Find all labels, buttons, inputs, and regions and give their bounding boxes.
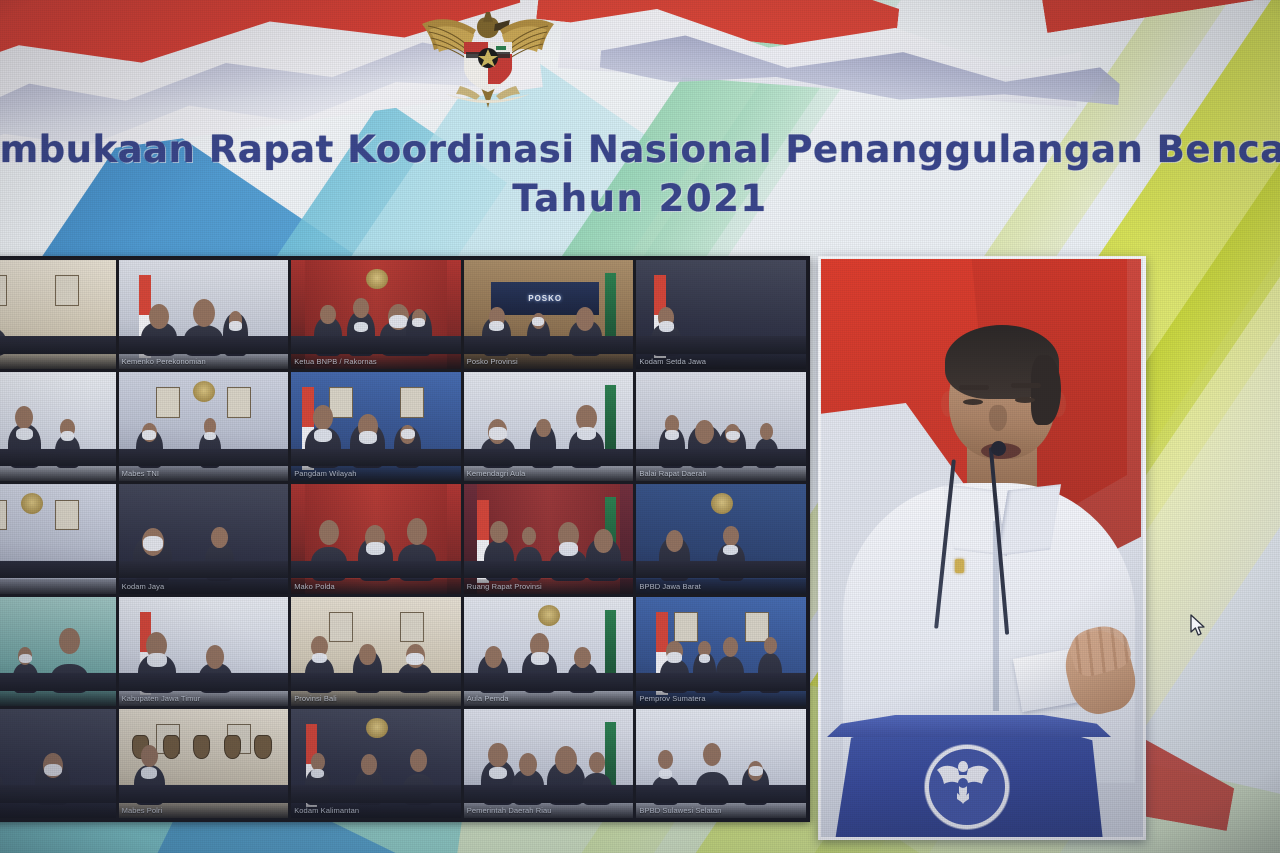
- tile-participant-mask: [699, 654, 711, 662]
- tile-table: [0, 449, 116, 466]
- tile-participant-head: [320, 305, 335, 325]
- tile-participant-head: [555, 746, 577, 774]
- tile-participant-head: [193, 299, 215, 327]
- tile-participant-name: [0, 692, 113, 705]
- tile-video-scene: [0, 372, 116, 481]
- tile-table: [464, 449, 634, 466]
- tile-table: [119, 561, 289, 578]
- video-tile[interactable]: Kodam Jaya: [119, 484, 289, 593]
- tile-organisation-flag: [605, 385, 617, 455]
- headline-line-1: embukaan Rapat Koordinasi Nasional Penan…: [0, 128, 1280, 172]
- tile-participant-head: [149, 304, 169, 329]
- tile-video-scene: [291, 372, 461, 481]
- speaker-brow-left: [959, 385, 989, 390]
- tile-video-scene: [464, 484, 634, 593]
- tile-participant-mask: [229, 321, 242, 330]
- video-tile[interactable]: Ketua BNPB / Rakornas: [291, 260, 461, 369]
- tile-participant-head: [536, 419, 550, 438]
- tile-participant-mask: [354, 322, 368, 332]
- tile-video-scene: [291, 709, 461, 818]
- tile-participant-head: [211, 527, 227, 548]
- speaker-hair-side: [1031, 355, 1061, 425]
- tile-table: [0, 673, 116, 690]
- tile-wall-crest: [711, 493, 733, 514]
- tile-participant-name: [0, 580, 113, 593]
- speaker-lapel-pin: [955, 559, 964, 573]
- tile-participant-name: Kodam Setda Jawa: [639, 355, 803, 368]
- tile-participant-head: [703, 743, 721, 766]
- tile-video-scene: [464, 597, 634, 706]
- tile-participant-mask: [723, 545, 738, 555]
- tile-participant-mask: [489, 321, 504, 331]
- tile-wall-crest: [193, 381, 215, 402]
- tile-participant-mask: [577, 427, 596, 440]
- tile-wall-portrait: [156, 387, 180, 417]
- tile-participant-mask: [532, 317, 544, 325]
- tile-table: [636, 336, 806, 353]
- tile-wall-shield: [224, 735, 241, 759]
- tile-table: [119, 336, 289, 353]
- tile-video-scene: [636, 709, 806, 818]
- tile-participant-head: [353, 298, 369, 318]
- tile-participant-mask: [531, 652, 549, 665]
- tile-table: [291, 785, 461, 802]
- tile-participant-head: [141, 745, 159, 768]
- tile-participant-name: Kodam Kalimantan: [294, 804, 458, 817]
- tile-video-scene: POSKO: [464, 260, 634, 369]
- projected-screen: embukaan Rapat Koordinasi Nasional Penan…: [0, 0, 1280, 853]
- tile-participant-name: Kabupaten Jawa Timur: [122, 692, 286, 705]
- tile-participant-mask: [359, 431, 377, 444]
- speaker-nose: [989, 405, 1007, 431]
- tile-wall-portrait: [400, 387, 424, 417]
- tile-video-scene: [119, 484, 289, 593]
- tile-participant-mask: [749, 766, 763, 776]
- video-tile[interactable]: [0, 372, 116, 481]
- tile-wall-portrait: [227, 387, 251, 417]
- tile-video-scene: [291, 260, 461, 369]
- tile-participant-mask: [19, 654, 32, 663]
- tile-video-scene: [119, 597, 289, 706]
- tile-table: [464, 785, 634, 802]
- tile-participant-name: Balai Rapat Daerah: [639, 467, 803, 480]
- tile-organisation-flag: [605, 273, 617, 343]
- tile-participant-name: BPBD Jawa Barat: [639, 580, 803, 593]
- speaker-ear-left: [941, 391, 956, 417]
- tile-participant-head: [410, 749, 428, 772]
- tile-participant-name: Ketua BNPB / Rakornas: [294, 355, 458, 368]
- video-tile[interactable]: Mako Polda: [291, 484, 461, 593]
- tile-wall-crest: [366, 718, 388, 739]
- tile-participant-mask: [16, 428, 33, 440]
- tile-video-scene: [119, 260, 289, 369]
- tile-participant-name: Provinsi Bali: [294, 692, 458, 705]
- tile-participant-name: Mabes Polri: [122, 804, 286, 817]
- tile-participant-head: [206, 645, 224, 669]
- tile-participant-head: [361, 754, 377, 774]
- tile-table: [291, 449, 461, 466]
- participant-video-grid[interactable]: Kemenko PerekonomianKetua BNPB / Rakorna…: [0, 256, 810, 822]
- tile-participant-mask: [61, 431, 74, 440]
- tile-participant-head: [574, 647, 590, 668]
- tile-participant-name: Posko Provinsi: [467, 355, 631, 368]
- tile-participant-mask: [204, 432, 216, 440]
- tile-participant-name: Mako Polda: [294, 580, 458, 593]
- tile-participant-mask: [659, 321, 674, 332]
- video-tile[interactable]: [0, 484, 116, 593]
- tile-table: [0, 785, 116, 802]
- tile-participant-head: [59, 628, 79, 654]
- tile-participant-head: [313, 405, 333, 430]
- tile-wall-portrait: [0, 500, 7, 530]
- video-tile[interactable]: Mabes TNI: [119, 372, 289, 481]
- video-tile[interactable]: BPBD Jawa Barat: [636, 484, 806, 593]
- video-tile[interactable]: Kodam Kalimantan: [291, 709, 461, 818]
- tile-participant-head: [488, 743, 507, 768]
- tile-wall-shield: [254, 735, 271, 759]
- tile-participant-mask: [489, 427, 507, 439]
- microphone-head-icon: [991, 441, 1006, 456]
- tile-video-scene: [636, 372, 806, 481]
- tile-table: [636, 785, 806, 802]
- video-tile[interactable]: [0, 709, 116, 818]
- tile-video-scene: [0, 709, 116, 818]
- video-tile[interactable]: BPBD Sulawesi Selatan: [636, 709, 806, 818]
- tile-video-scene: [636, 484, 806, 593]
- video-tile[interactable]: Mabes Polri: [119, 709, 289, 818]
- headline-line-2: Tahun 2021: [0, 176, 1280, 222]
- tile-table: [0, 561, 116, 578]
- tile-participant-mask: [665, 430, 678, 440]
- tile-participant-name: Pangdam Wilayah: [294, 467, 458, 480]
- tile-video-scene: [0, 260, 116, 369]
- video-tile[interactable]: [0, 597, 116, 706]
- tile-video-scene: [464, 372, 634, 481]
- tile-participant-name: Kodam Jaya: [122, 580, 286, 593]
- tile-participant-name: Pemerintah Daerah Riau: [467, 804, 631, 817]
- video-tile[interactable]: Pangdam Wilayah: [291, 372, 461, 481]
- tile-participant-name: Ruang Rapat Provinsi: [467, 580, 631, 593]
- tile-wall-portrait: [329, 612, 353, 642]
- tile-wall-crest: [366, 269, 388, 290]
- tile-participant-name: BPBD Sulawesi Selatan: [639, 804, 803, 817]
- tile-wall-portrait: [55, 500, 79, 530]
- tile-participant-head: [658, 750, 673, 769]
- tile-video-scene: [0, 597, 116, 706]
- tile-table: [636, 561, 806, 578]
- tile-participant-mask: [147, 653, 167, 667]
- tile-wall-portrait: [674, 612, 698, 642]
- tile-table: [119, 449, 289, 466]
- tile-wall-portrait: [55, 275, 79, 305]
- tile-wall-crest: [21, 493, 43, 514]
- video-tile[interactable]: Kodam Setda Jawa: [636, 260, 806, 369]
- tile-wall-crest: [538, 605, 560, 626]
- tile-wall-shield: [193, 735, 210, 759]
- tile-table: [291, 561, 461, 578]
- tile-participant-name: Pemprov Sumatera: [639, 692, 803, 705]
- garuda-seal-icon: [933, 757, 993, 805]
- tile-video-scene: [291, 597, 461, 706]
- tile-participant-mask: [312, 653, 327, 664]
- tile-participant-mask: [726, 431, 740, 441]
- tile-video-scene: [464, 709, 634, 818]
- video-tile[interactable]: Provinsi Bali: [291, 597, 461, 706]
- tile-participant-name: [0, 804, 113, 817]
- tile-table: [0, 336, 116, 353]
- tile-participant-mask: [401, 429, 415, 439]
- tile-participant-name: [0, 467, 113, 480]
- video-tile[interactable]: Balai Rapat Daerah: [636, 372, 806, 481]
- video-tile[interactable]: Kemenko Perekonomian: [119, 260, 289, 369]
- tile-participant-mask: [559, 542, 578, 556]
- tile-table: [291, 673, 461, 690]
- tile-participant-head: [723, 526, 739, 546]
- garuda-pancasila-emblem: [398, 2, 578, 118]
- tile-participant-mask: [406, 653, 424, 665]
- video-tile[interactable]: Pemprov Sumatera: [636, 597, 806, 706]
- tile-participant-mask: [143, 536, 163, 550]
- tile-participant-mask: [141, 767, 157, 779]
- tile-wall-portrait: [745, 612, 769, 642]
- video-tile[interactable]: Pemerintah Daerah Riau: [464, 709, 634, 818]
- tile-video-scene: [291, 484, 461, 593]
- tile-table: [464, 336, 634, 353]
- speaker-brow-right: [1011, 383, 1041, 388]
- speaker-eye-right: [1015, 397, 1035, 403]
- tile-participant-name: [0, 355, 113, 368]
- tile-participant-head: [576, 307, 594, 331]
- tile-table: [636, 673, 806, 690]
- video-tile[interactable]: [0, 260, 116, 369]
- tile-participant-head: [760, 423, 773, 440]
- tile-table: [291, 336, 461, 353]
- tile-wall-shield: [163, 735, 180, 759]
- speaker-eye-left: [963, 399, 983, 405]
- tile-participant-head: [359, 644, 375, 665]
- tile-participant-mask: [311, 769, 324, 778]
- tile-organisation-flag: [605, 610, 617, 680]
- video-tile[interactable]: Ruang Rapat Provinsi: [464, 484, 634, 593]
- tile-wall-portrait: [400, 612, 424, 642]
- tile-participant-mask: [314, 429, 332, 442]
- video-tile[interactable]: Aula Pemda: [464, 597, 634, 706]
- tile-participant-mask: [667, 652, 682, 663]
- mouse-pointer-icon: [1190, 614, 1206, 638]
- tile-participant-head: [485, 646, 502, 668]
- tile-participant-name: Kemendagri Aula: [467, 467, 631, 480]
- tile-table: [464, 673, 634, 690]
- tile-video-scene: [119, 372, 289, 481]
- tile-participant-head: [490, 521, 507, 543]
- tile-table: [464, 561, 634, 578]
- tile-participant-mask: [44, 764, 62, 777]
- tile-video-scene: [119, 709, 289, 818]
- video-tile[interactable]: Kabupaten Jawa Timur: [119, 597, 289, 706]
- tile-video-scene: [0, 484, 116, 593]
- tile-participant-name: Kemenko Perekonomian: [122, 355, 286, 368]
- tile-video-scene: [636, 260, 806, 369]
- tile-participant-head: [723, 637, 739, 657]
- tile-participant-mask: [659, 769, 673, 779]
- event-headline: embukaan Rapat Koordinasi Nasional Penan…: [0, 128, 1280, 222]
- tile-participant-mask: [142, 430, 156, 440]
- video-tile[interactable]: POSKOPosko Provinsi: [464, 260, 634, 369]
- tile-participant-name: Aula Pemda: [467, 692, 631, 705]
- video-tile[interactable]: Kemendagri Aula: [464, 372, 634, 481]
- tile-participant-head: [666, 530, 683, 552]
- tile-table: [119, 785, 289, 802]
- tile-video-scene: [636, 597, 806, 706]
- tile-participant-mask: [366, 542, 384, 555]
- tile-table: [119, 673, 289, 690]
- tile-participant-mask: [489, 767, 507, 780]
- tile-participant-head: [589, 752, 605, 773]
- tile-participant-name: Mabes TNI: [122, 467, 286, 480]
- tile-wall-portrait: [0, 275, 7, 305]
- tile-table: [636, 449, 806, 466]
- main-speaker-feed[interactable]: [818, 256, 1146, 840]
- tile-participant-head: [764, 637, 777, 654]
- tile-participant-head: [319, 520, 339, 546]
